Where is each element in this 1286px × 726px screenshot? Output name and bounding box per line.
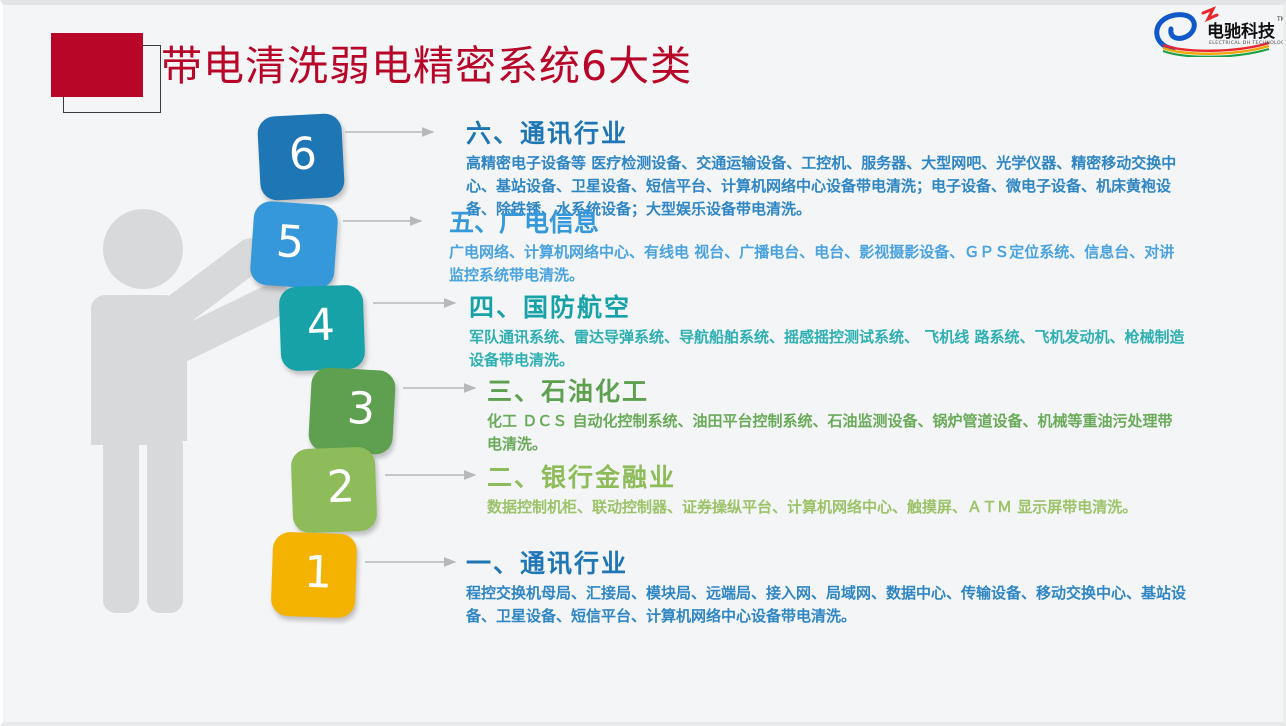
section-4-heading: 四、国防航空 [469, 292, 1189, 324]
section-4: 四、国防航空 军队通讯系统、雷达导弹系统、导航船舶系统、摇感摇控测试系统、 飞机… [469, 292, 1189, 372]
section-5-body: 广电网络、计算机网络中心、有线电 视台、广播电台、电台、影视摄影设备、ＧＰＳ定位… [449, 241, 1189, 287]
section-3: 三、石油化工 化工 ＤＣＳ 自动化控制系统、油田平台控制系统、石油监测设备、锅炉… [487, 376, 1187, 456]
section-2: 二、银行金融业 数据控制机柜、联动控制器、证券操纵平台、计算机网络中心、触摸屏、… [487, 462, 1187, 519]
block-4[interactable]: 4 [279, 285, 366, 372]
section-1-heading: 一、通讯行业 [466, 548, 1188, 580]
block-5-label: 5 [274, 220, 305, 270]
section-1: 一、通讯行业 程控交换机母局、汇接局、模块局、远端局、接入网、局域网、数据中心、… [466, 548, 1188, 628]
section-3-heading: 三、石油化工 [487, 376, 1187, 408]
section-2-heading: 二、银行金融业 [487, 462, 1187, 494]
block-2-label: 2 [326, 465, 356, 514]
section-5: 五、广电信息 广电网络、计算机网络中心、有线电 视台、广播电台、电台、影视摄影设… [449, 207, 1189, 287]
block-2[interactable]: 2 [291, 447, 378, 534]
slide-canvas: 电驰科技 TM ELECTRICAL DH TECHNOLOGY 带电清洗弱电精… [0, 0, 1286, 726]
block-5[interactable]: 5 [249, 200, 339, 290]
block-1-label: 1 [303, 551, 333, 600]
block-3[interactable]: 3 [308, 367, 396, 455]
section-5-heading: 五、广电信息 [449, 207, 1189, 239]
block-4-label: 4 [306, 304, 336, 353]
section-2-body: 数据控制机柜、联动控制器、证券操纵平台、计算机网络中心、触摸屏、ＡＴＭ 显示屏带… [487, 496, 1187, 519]
section-4-body: 军队通讯系统、雷达导弹系统、导航船舶系统、摇感摇控测试系统、 飞机线 路系统、飞… [469, 326, 1189, 372]
section-6: 六、通讯行业 高精密电子设备等 医疗检测设备、交通运输设备、工控机、服务器、大型… [466, 118, 1188, 221]
section-6-heading: 六、通讯行业 [466, 118, 1188, 150]
block-6-label: 6 [288, 132, 318, 181]
block-6[interactable]: 6 [257, 113, 345, 201]
section-1-body: 程控交换机母局、汇接局、模块局、远端局、接入网、局域网、数据中心、传输设备、移动… [466, 582, 1188, 628]
block-3-label: 3 [346, 387, 376, 436]
section-3-body: 化工 ＤＣＳ 自动化控制系统、油田平台控制系统、石油监测设备、锅炉管道设备、机械… [487, 410, 1187, 456]
block-1[interactable]: 1 [271, 532, 358, 619]
